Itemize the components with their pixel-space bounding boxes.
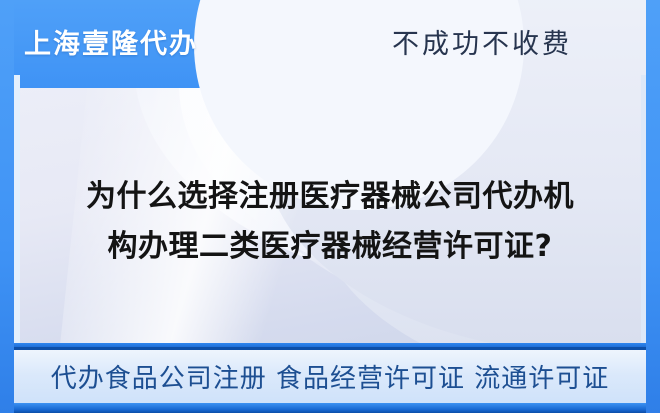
footer-divider-bottom <box>14 347 646 350</box>
left-blue-rail <box>0 0 14 413</box>
page-title-line-1: 为什么选择注册医疗器械公司代办机 <box>20 172 640 222</box>
services-text: 代办食品公司注册 食品经营许可证 流通许可证 <box>51 358 610 395</box>
footer-blue-strip <box>14 403 646 413</box>
right-blue-rail <box>646 0 660 413</box>
page-title: 为什么选择注册医疗器械公司代办机 构办理二类医疗器械经营许可证? <box>20 172 640 272</box>
footer-white-edge <box>0 413 660 420</box>
brand-name: 上海壹隆代办 <box>24 22 198 61</box>
promo-banner: 上海壹隆代办 不成功不收费 为什么选择注册医疗器械公司代办机 构办理二类医疗器械… <box>0 0 660 420</box>
page-title-line-2: 构办理二类医疗器械经营许可证? <box>20 222 640 272</box>
slogan-text: 不成功不收费 <box>392 22 572 61</box>
services-bar: 代办食品公司注册 食品经营许可证 流通许可证 <box>14 350 646 403</box>
card-inner-edge-left <box>14 75 20 343</box>
